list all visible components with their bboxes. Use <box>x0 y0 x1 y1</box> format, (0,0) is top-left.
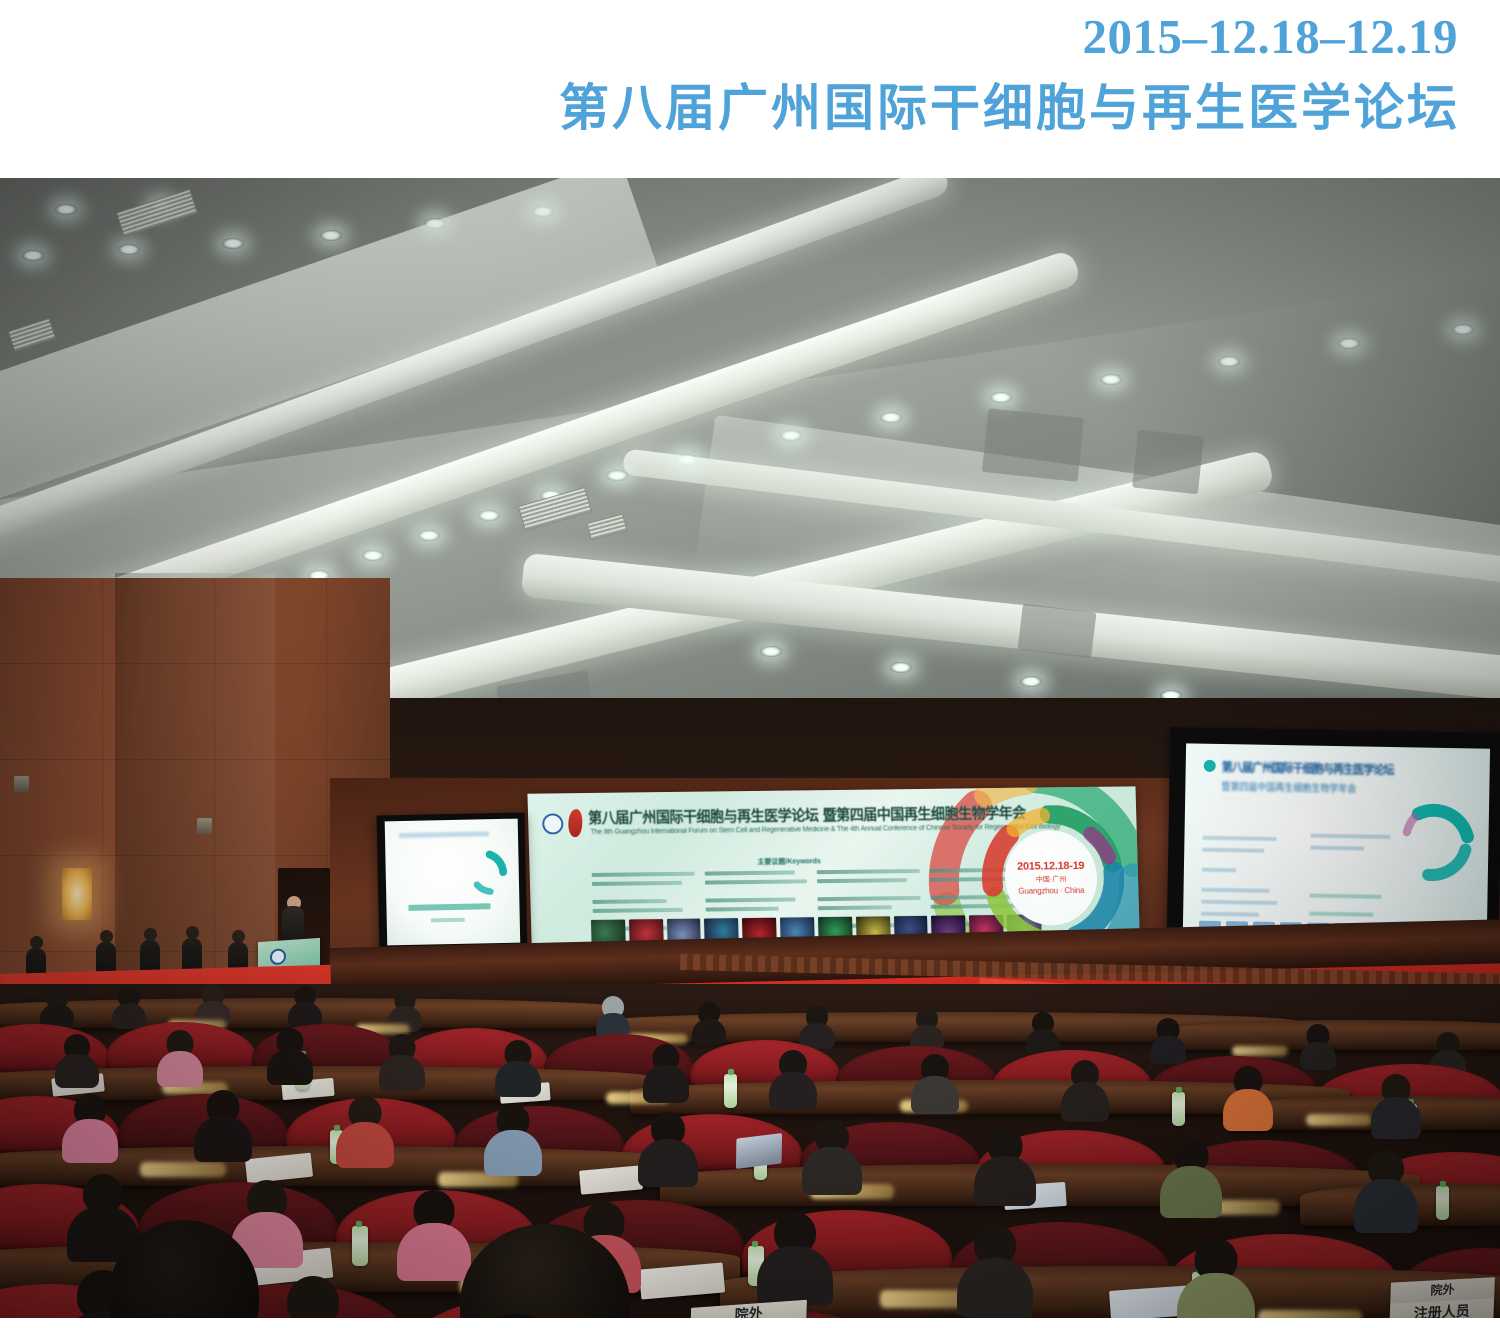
ceiling-downlight <box>55 204 77 215</box>
slide-swirl-decoration <box>1386 795 1480 889</box>
page-header: 2015–12.18–12.19 第八届广州国际干细胞与再生医学论坛 <box>0 0 1500 178</box>
ceiling-downlight <box>320 230 342 241</box>
wall-speaker <box>14 776 29 792</box>
audience-member <box>960 1224 1030 1310</box>
card-line-2: 注册人员 <box>1414 1305 1470 1318</box>
emblem-city-cn: 中国·广州 <box>1036 874 1067 884</box>
ceiling-acoustic-panel <box>982 408 1084 482</box>
audience-seating-area: 院外 注册人员 <box>0 984 1500 1318</box>
ceiling-downlight <box>990 392 1012 403</box>
audience-member <box>486 1104 540 1168</box>
ceiling-downlight <box>222 238 244 249</box>
audience-member <box>1372 1074 1420 1132</box>
audience-member <box>910 1008 944 1046</box>
audience-member <box>112 986 146 1022</box>
audience-member <box>1300 1024 1336 1064</box>
ceiling-acoustic-panel <box>1017 604 1096 659</box>
audience-member <box>596 996 630 1034</box>
audience-member <box>804 1120 860 1186</box>
audience-member <box>196 984 230 1020</box>
ceiling-downlight <box>362 550 384 561</box>
ceiling-downlight <box>760 646 782 657</box>
audience-member <box>640 1112 696 1178</box>
emblem-date: 2015.12.18-19 <box>1017 860 1084 873</box>
audience-member <box>388 990 422 1026</box>
audience-member <box>1356 1150 1416 1222</box>
emblem-city-en: Guangzhou · China <box>1018 886 1084 896</box>
slide-swirl-decoration <box>452 841 513 902</box>
ceiling-downlight <box>118 244 140 255</box>
audience-member <box>380 1034 424 1086</box>
ceiling-downlight <box>532 206 554 217</box>
audience-member <box>1162 1138 1220 1208</box>
wall-speaker <box>197 818 212 834</box>
ceiling-downlight <box>676 454 698 465</box>
left-screen-slide <box>385 819 521 946</box>
card-line-1: 院外 <box>1430 1283 1454 1297</box>
water-bottle <box>1436 1186 1449 1220</box>
ceiling-downlight <box>880 412 902 423</box>
slide-text-line <box>431 918 465 923</box>
ceiling-downlight <box>1218 356 1240 367</box>
desk-name-card: 院外 注册人员 <box>1389 1277 1495 1318</box>
ceiling-downlight <box>1338 338 1360 349</box>
audience-member <box>288 986 322 1022</box>
water-bottle <box>724 1074 737 1108</box>
water-bottle <box>352 1226 368 1266</box>
audience-member <box>760 1212 830 1296</box>
audience-member <box>268 1028 312 1080</box>
ceiling-downlight <box>478 510 500 521</box>
audience-member <box>158 1030 202 1082</box>
ceiling-downlight <box>780 430 802 441</box>
audience-member <box>338 1096 392 1160</box>
ceiling-downlight <box>1452 324 1474 335</box>
desk-paper <box>579 1165 643 1194</box>
ceiling-downlight <box>424 218 446 229</box>
desk-lamp-glow <box>1306 1114 1372 1126</box>
desk-lamp-glow <box>140 1162 226 1177</box>
podium-seal-logo <box>270 948 286 965</box>
audience-member <box>692 1002 726 1040</box>
exit-sign-light <box>62 868 92 920</box>
slide-small-text: · · · · · · · · <box>1221 796 1249 802</box>
ceiling-downlight <box>890 662 912 673</box>
water-bottle <box>1172 1092 1185 1126</box>
audience-member <box>976 1128 1034 1196</box>
flame-emblem-icon <box>568 809 583 837</box>
slide-logo-icon <box>1204 760 1216 772</box>
audience-member <box>40 988 74 1022</box>
institute-seal-logo <box>542 813 564 834</box>
desk-lamp-glow <box>1232 1046 1288 1056</box>
ceiling-downlight <box>418 530 440 541</box>
card-line-1: 院外 <box>734 1307 762 1318</box>
slide-title: 第八届广州国际干细胞与再生医学论坛 <box>1222 758 1394 778</box>
audience-member <box>64 1094 116 1156</box>
laptop-computer <box>736 1133 782 1169</box>
audience-member <box>496 1040 540 1092</box>
audience-member <box>56 1034 98 1084</box>
slide-subtitle: 暨第四届中国再生细胞生物学年会 <box>1221 778 1356 795</box>
audience-member <box>1026 1012 1060 1050</box>
audience-member <box>912 1054 958 1108</box>
event-date-heading: 2015–12.18–12.19 <box>1083 8 1459 65</box>
ceiling-downlight <box>606 470 628 481</box>
audience-member <box>770 1050 816 1104</box>
audience-member-ponytail <box>430 1224 660 1318</box>
conference-hall-photo: 第八届广州国际干细胞与再生医学论坛 暨第四届中国再生细胞生物学年会 The 8t… <box>0 178 1500 1318</box>
left-projection-screen <box>377 812 528 955</box>
audience-member <box>1062 1060 1108 1116</box>
page-root: 2015–12.18–12.19 第八届广州国际干细胞与再生医学论坛 <box>0 0 1500 1328</box>
audience-member <box>1224 1066 1272 1124</box>
audience-member <box>196 1090 250 1154</box>
ceiling-downlight <box>1020 676 1042 687</box>
photo-bottom-margin <box>0 1318 1500 1328</box>
event-title-heading: 第八届广州国际干细胞与再生医学论坛 <box>559 68 1460 140</box>
audience-member-foreground <box>60 1220 290 1318</box>
audience-member <box>1150 1018 1186 1058</box>
banner-keywords-label: 主要议题/Keywords <box>757 856 821 867</box>
audience-member <box>800 1006 834 1044</box>
ceiling-downlight <box>22 250 44 261</box>
ceiling-acoustic-panel <box>1132 430 1204 495</box>
desk-lamp-glow <box>1258 1310 1362 1318</box>
audience-member <box>644 1044 688 1098</box>
audience-member <box>1180 1238 1252 1318</box>
slide-text-line <box>408 903 490 911</box>
ceiling-downlight <box>1100 374 1122 385</box>
